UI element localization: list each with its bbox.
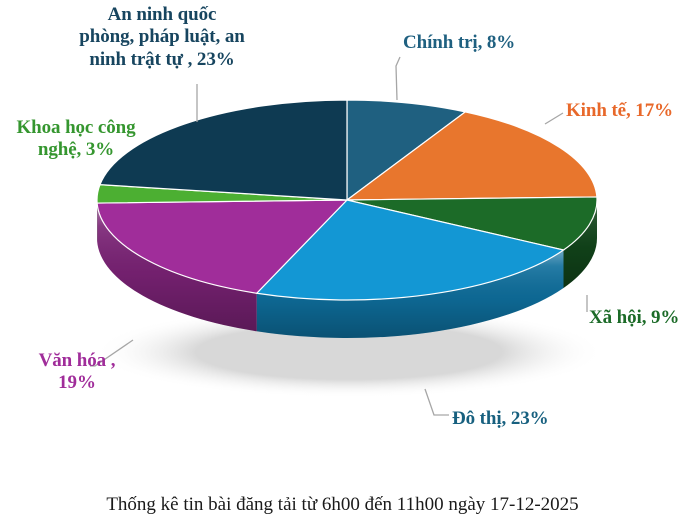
leader-line-kinh-te [545, 113, 563, 124]
label-an-ninh-quoc-phong: An ninh quốc phòng, pháp luật, an ninh t… [62, 4, 262, 71]
chart-caption: Thống kê tin bài đăng tải từ 6h00 đến 11… [0, 494, 685, 516]
pie-chart-figure: An ninh quốc phòng, pháp luật, an ninh t… [0, 0, 685, 531]
pie-chart-graphic [0, 0, 685, 531]
label-xa-hoi: Xã hội, 9% [589, 307, 679, 329]
pie-top-faces [97, 100, 597, 300]
label-khoa-hoc-cong-nghe: Khoa học công nghệ, 3% [2, 117, 150, 162]
label-van-hoa: Văn hóa , 19% [16, 350, 138, 395]
label-chinh-tri: Chính trị, 8% [403, 32, 515, 54]
label-kinh-te: Kinh tế, 17% [566, 100, 673, 122]
leader-line-chinh-tri [396, 57, 400, 100]
label-do-thi: Đô thị, 23% [452, 408, 549, 430]
